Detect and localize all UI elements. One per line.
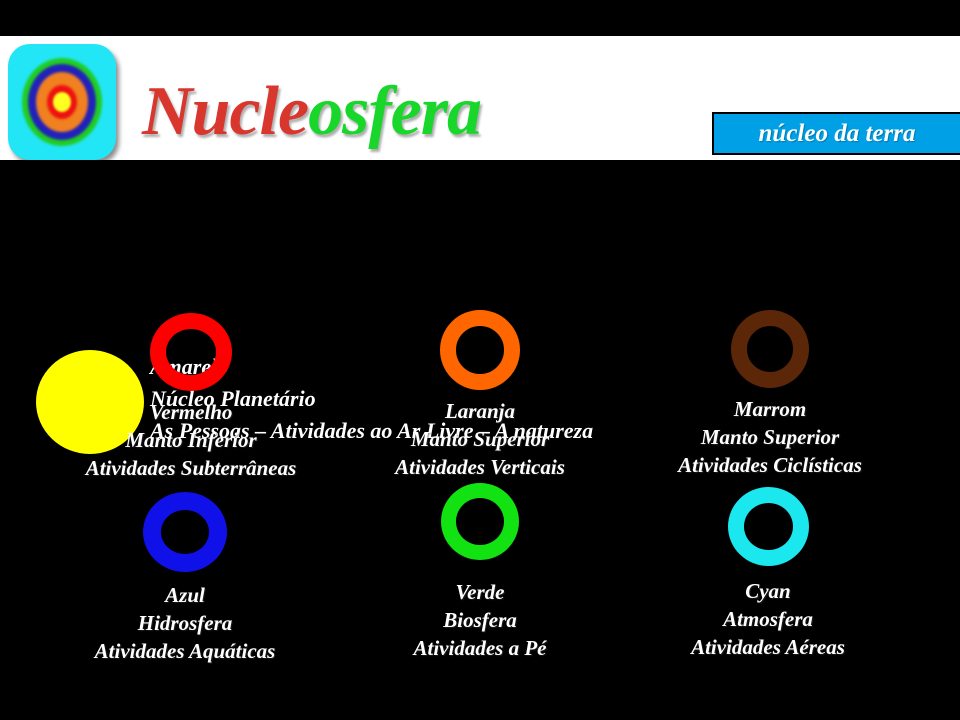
sphere-color-name: Laranja [325, 397, 635, 425]
sphere-activity: Atividades Subterrâneas [36, 454, 346, 482]
sphere-layer: Manto Superior [325, 425, 635, 453]
sphere-activity: Atividades a Pé [325, 634, 635, 662]
sphere-layer: Manto Superior [615, 423, 925, 451]
sphere-layer: Biosfera [325, 606, 635, 634]
sphere-color-name: Azul [30, 581, 340, 609]
sphere-activity: Atividades Aquáticas [30, 637, 340, 665]
sphere-labels-laranja: Laranja Manto Superior Atividades Vertic… [325, 397, 635, 481]
ring-verde-icon [441, 483, 519, 560]
sphere-color-name: Vermelho [36, 398, 346, 426]
sphere-color-name: Cyan [613, 577, 923, 605]
sphere-labels-verde: Verde Biosfera Atividades a Pé [325, 578, 635, 662]
top-entry: Amarelo Núcleo Planetário As Pessoas – A… [0, 170, 960, 290]
sphere-item-laranja: Laranja Manto Superior Atividades Vertic… [325, 310, 635, 481]
page-title: Nucleosfera [142, 72, 481, 152]
ring-vermelho-icon [150, 313, 232, 391]
sphere-color-name: Verde [325, 578, 635, 606]
sphere-activity: Atividades Ciclísticas [615, 451, 925, 479]
ring-cyan-icon [728, 487, 809, 566]
sphere-activity: Atividades Verticais [325, 453, 635, 481]
sphere-layer: Atmosfera [613, 605, 923, 633]
sphere-labels-vermelho: Vermelho Manto Inferior Atividades Subte… [36, 398, 346, 482]
ring-azul-icon [143, 492, 227, 572]
sphere-item-cyan: Cyan Atmosfera Atividades Aéreas [613, 487, 923, 661]
sphere-color-name: Marrom [615, 395, 925, 423]
nucleosfera-logo-icon [8, 44, 116, 160]
sphere-item-verde: Verde Biosfera Atividades a Pé [325, 483, 635, 662]
page-title-part1: Nucle [142, 73, 308, 150]
page-title-part2: osfera [308, 73, 481, 150]
ring-marrom-icon [731, 310, 809, 388]
topic-banner: núcleo da terra [712, 112, 960, 155]
sphere-activity: Atividades Aéreas [613, 633, 923, 661]
sphere-layer: Manto Inferior [36, 426, 346, 454]
sphere-item-vermelho: Vermelho Manto Inferior Atividades Subte… [36, 313, 346, 482]
sphere-labels-cyan: Cyan Atmosfera Atividades Aéreas [613, 577, 923, 661]
sphere-labels-marrom: Marrom Manto Superior Atividades Ciclíst… [615, 395, 925, 479]
sphere-labels-azul: Azul Hidrosfera Atividades Aquáticas [30, 581, 340, 665]
logo-ring-yellow [53, 92, 71, 112]
slide-canvas: Nucleosfera núcleo da terra Amarelo Núcl… [0, 0, 960, 720]
ring-laranja-icon [440, 310, 520, 390]
topic-banner-label: núcleo da terra [759, 120, 916, 148]
sphere-item-marrom: Marrom Manto Superior Atividades Ciclíst… [615, 310, 925, 479]
sphere-item-azul: Azul Hidrosfera Atividades Aquáticas [30, 492, 340, 665]
sphere-layer: Hidrosfera [30, 609, 340, 637]
